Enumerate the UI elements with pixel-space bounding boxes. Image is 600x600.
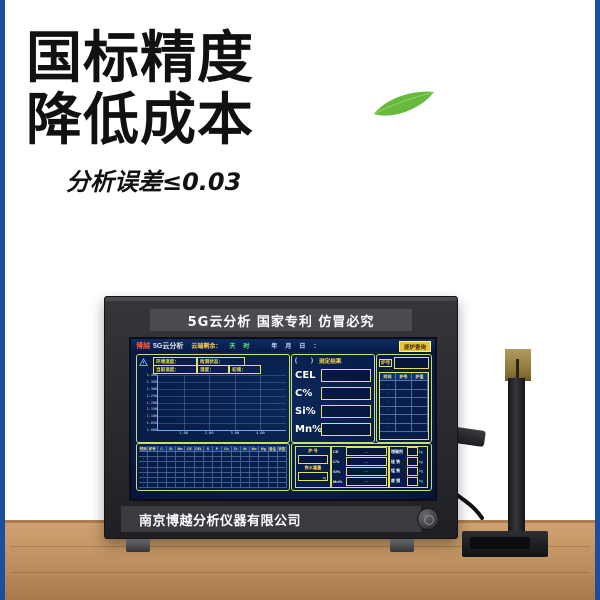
furnace-log-cell (396, 424, 412, 433)
probe-stand-column (508, 378, 525, 536)
measurement-results-panel: ( ) 测定结果 CEL C% Si% Mn% (291, 354, 375, 443)
dose-additive-unit: kg (419, 479, 426, 483)
result-label-mn: Mn% (295, 424, 321, 435)
dose-target-range-input[interactable]: — (346, 467, 387, 476)
detect-state-label: 检测状态： (198, 358, 225, 365)
furnace-log-header-cell: 炉号 (396, 373, 412, 381)
result-value-mn[interactable] (321, 423, 371, 436)
table-cell (167, 483, 176, 488)
chart-ytick: 1.200 (147, 401, 157, 405)
table-cell (213, 483, 222, 488)
dosing-panel: 炉 号 铁水重量 kg CE—C%—Si%—Mn%— 增碳剂kg硅 铁kg锰 铁… (291, 443, 432, 491)
chart-gridline-h (158, 382, 286, 383)
result-row-mn: Mn% (295, 422, 371, 436)
table-cell (176, 483, 185, 488)
chart-gridline-h (158, 409, 286, 410)
furnace-log-row[interactable]: : (380, 390, 428, 399)
date-year-label: 年 (271, 341, 277, 350)
dose-target-range-input[interactable]: — (346, 457, 387, 466)
dose-target-row: CE— (332, 447, 388, 457)
chart-ytick: 1.000 (147, 428, 157, 432)
dose-additive-unit: kg (419, 460, 426, 464)
time-colon: ： (313, 341, 319, 350)
dose-additive-input[interactable] (407, 447, 418, 456)
furnace-log-row[interactable]: : (380, 407, 428, 416)
furnace-number-label: 炉号 (379, 359, 392, 367)
env-temp-label: 环境温度： (154, 358, 181, 365)
furnace-log-header-cell: 时间 (380, 373, 396, 381)
dose-target-label: Mn% (333, 479, 346, 484)
furnace-log-cell: : (380, 390, 396, 399)
chart-ytick: 1.300 (147, 387, 157, 391)
brand-subtitle: 5G云分析 (153, 341, 183, 351)
furnace-log-cell: : (380, 381, 396, 390)
dose-range-dash: — (365, 479, 368, 483)
furnace-log-cell (396, 415, 412, 424)
results-title-row: ( ) 测定结果 (295, 357, 341, 365)
results-paren-right: ) (311, 358, 313, 364)
date-day-label: 日 (299, 341, 305, 350)
table-cell (241, 483, 250, 488)
dose-additive-row: 锰 铁kg (390, 467, 427, 477)
device-company-bar: 南京博越分析仪器有限公司 (121, 506, 421, 532)
chart-gridline-v (209, 375, 210, 430)
analyzer-device: 5G云分析 国家专利 仿冒必究 博越 5G云分析 云端剩余： 天 时 年 月 日… (104, 296, 458, 539)
chart-gridline-h (158, 423, 286, 424)
company-name: 南京博越分析仪器有限公司 (139, 510, 301, 529)
device-banner: 5G云分析 国家专利 仿冒必究 (150, 309, 412, 331)
dose-target-range-input[interactable]: — (346, 477, 387, 486)
furnace-log-header: 时间炉号炉值 (380, 373, 428, 381)
table-cell (204, 483, 213, 488)
table-cell (269, 483, 278, 488)
furnace-log-cell: : (380, 424, 396, 433)
dose-range-dash: — (365, 450, 368, 454)
furnace-log-cell (396, 398, 412, 407)
furnace-log-cell (412, 415, 428, 424)
chart-gridline-h (158, 396, 286, 397)
chart-ytick: 1.150 (147, 407, 157, 411)
chart-ytick: 1.350 (147, 380, 157, 384)
dosing-target-ranges: CE—C%—Si%—Mn%— (331, 446, 389, 488)
result-row-c: C% (295, 386, 371, 400)
headline-line-2: 降低成本 (26, 90, 356, 152)
table-cell: : (139, 483, 148, 488)
furnace-log-row[interactable]: : (380, 424, 428, 433)
table-cell (278, 483, 287, 488)
current-temp-label: 当前温度： (154, 366, 181, 373)
sample-cup-holder-icon (505, 349, 531, 381)
batch-input[interactable] (298, 455, 328, 464)
dosing-batch-block: 炉 号 铁水重量 kg (295, 446, 331, 488)
right-blue-rail (595, 0, 600, 600)
result-label-c: C% (295, 388, 321, 399)
dose-additive-unit: kg (419, 469, 426, 473)
chart-gridline-v (235, 375, 236, 430)
chart-xtick: 3.00 (230, 431, 239, 435)
iron-weight-label: 铁水重量 (296, 465, 330, 471)
chart-xtick: 2.00 (205, 431, 214, 435)
dose-additive-label: 锰 铁 (391, 468, 407, 474)
result-row-si: Si% (295, 404, 371, 418)
table-cell (158, 483, 167, 488)
result-row-cel: CEL (295, 368, 371, 382)
dose-additive-row: 增碳剂kg (390, 447, 427, 457)
furnace-log-cell (412, 424, 428, 433)
results-paren-left: ( (295, 358, 297, 364)
cloud-day-unit: 天 (229, 341, 235, 350)
dose-additive-label: 硅 铁 (391, 459, 407, 465)
cooling-curve-panel: 环境温度： 检测状态： 当前温度： 湿度： 初值： 1.4001.3501.30… (136, 354, 290, 443)
furnace-log-cell: : (380, 407, 396, 416)
chart-xtick: 1.00 (179, 431, 188, 435)
dose-additive-input[interactable] (407, 457, 418, 466)
table-cell (195, 483, 204, 488)
cooling-curve-plot: 1.4001.3501.3001.2501.2001.1501.1001.050… (157, 375, 286, 431)
initial-value-label: 初值： (230, 366, 248, 373)
table-cell (148, 483, 157, 488)
batch-label: 炉 号 (296, 448, 330, 454)
dose-target-label: CE (333, 449, 346, 454)
dose-additive-input[interactable] (407, 467, 418, 476)
furnace-log-panel: 炉号 时间炉号炉值:::::: (376, 354, 432, 443)
dose-target-label: C% (333, 459, 346, 464)
dose-additive-label: 增碳剂 (391, 449, 407, 455)
dose-additive-unit: kg (419, 450, 426, 454)
promo-product-image: 国标精度 降低成本 分析误差≤0.03 5G云分析 国家专利 仿冒必究 博越 5… (0, 0, 600, 600)
furnace-log-row[interactable]: : (380, 415, 428, 424)
furnace-log-cell (412, 407, 428, 416)
leaf-icon (372, 90, 436, 120)
iron-weight-input[interactable]: kg (298, 472, 328, 481)
furnace-number-row: 炉号 (379, 357, 429, 369)
device-screen[interactable]: 博越 5G云分析 云端剩余： 天 时 年 月 日 ： 逐炉查询 环境温度： (129, 337, 437, 501)
date-month-label: 月 (285, 341, 291, 350)
dose-additive-input[interactable] (407, 477, 418, 486)
furnace-log-cell: : (380, 398, 396, 407)
humidity-label: 湿度： (198, 366, 216, 373)
furnace-log-cell (396, 381, 412, 390)
device-top-edge (105, 297, 457, 301)
dose-target-row: C%— (332, 457, 388, 467)
promo-headline: 国标精度 降低成本 分析误差≤0.03 (26, 28, 356, 197)
iron-weight-unit: kg (323, 476, 326, 480)
measurement-history-table[interactable]: 时间炉号CSiMnCECELSPCuCrNiMoMg备注状态::::::: (136, 443, 290, 491)
dose-additive-label: 废 钢 (391, 478, 407, 484)
result-value-cel[interactable] (321, 369, 371, 382)
result-value-c[interactable] (321, 387, 371, 400)
furnace-log-cell (412, 381, 428, 390)
dose-target-range-input[interactable]: — (346, 447, 387, 456)
dose-additive-row: 硅 铁kg (390, 457, 427, 467)
chart-xtick: 4.00 (256, 431, 265, 435)
table-cell (250, 483, 259, 488)
table-cell (222, 483, 231, 488)
chart-status-header: 环境温度： 检测状态： 当前温度： 湿度： 初值： (140, 357, 286, 373)
cloud-hour-unit: 时 (243, 341, 249, 350)
chart-gridline-v (184, 375, 185, 430)
result-label-cel: CEL (295, 370, 321, 381)
power-knob-icon[interactable] (417, 508, 439, 530)
results-title: 测定结果 (319, 357, 341, 365)
result-label-si: Si% (295, 406, 321, 417)
table-cell (232, 483, 241, 488)
chart-gridline-h (158, 375, 286, 376)
furnace-number-input[interactable] (394, 357, 429, 369)
dose-additive-row: 废 钢kg (390, 476, 427, 486)
brand-logo: 博越 (136, 341, 150, 351)
furnace-log-header-cell: 炉值 (412, 373, 428, 381)
table-row[interactable]: : (139, 483, 287, 488)
table-cell (259, 483, 268, 488)
dosing-additives: 增碳剂kg硅 铁kg锰 铁kg废 钢kg (389, 446, 428, 488)
chart-gridline-h (158, 430, 286, 431)
chart-ytick: 1.250 (147, 394, 157, 398)
chart-ytick: 1.050 (147, 421, 157, 425)
furnace-log-cell (396, 407, 412, 416)
dose-range-dash: — (365, 469, 368, 473)
furnace-log-row[interactable]: : (380, 381, 428, 390)
chart-gridline-v (260, 375, 261, 430)
furnace-log-cell (412, 390, 428, 399)
screen-topbar: 博越 5G云分析 云端剩余： 天 时 年 月 日 ： 逐炉查询 (131, 339, 435, 352)
probe-stand-base (462, 531, 548, 557)
dose-target-label: Si% (333, 469, 346, 474)
furnace-query-button[interactable]: 逐炉查询 (399, 341, 431, 352)
table-cell (185, 483, 194, 488)
headline-line-1: 国标精度 (26, 28, 356, 90)
furnace-log-table[interactable]: 时间炉号炉值:::::: (379, 372, 429, 440)
dose-target-row: Mn%— (332, 476, 388, 486)
banner-text: 5G云分析 国家专利 仿冒必究 (188, 311, 375, 330)
chart-ytick: 1.100 (147, 414, 157, 418)
cloud-remaining-label: 云端剩余： (191, 341, 221, 350)
chart-gridline-h (158, 403, 286, 404)
headline-subtitle: 分析误差≤0.03 (66, 162, 356, 197)
furnace-log-cell: : (380, 415, 396, 424)
chart-gridline-h (158, 416, 286, 417)
dose-range-dash: — (365, 460, 368, 464)
furnace-log-cell (412, 398, 428, 407)
dose-target-row: Si%— (332, 467, 388, 477)
furnace-log-cell (396, 390, 412, 399)
chart-ytick: 1.400 (147, 373, 157, 377)
furnace-log-row[interactable]: : (380, 398, 428, 407)
result-value-si[interactable] (321, 405, 371, 418)
chart-gridline-h (158, 389, 286, 390)
